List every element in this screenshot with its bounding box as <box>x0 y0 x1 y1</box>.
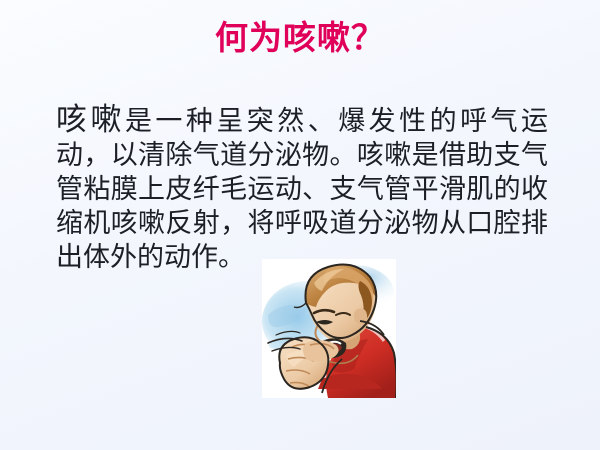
coughing-person-artwork <box>262 259 396 398</box>
page-title: 何为咳嗽？ <box>0 18 600 58</box>
body-paragraph: 咳嗽是一种呈突然、爆发性的呼气运动，以清除气道分泌物。咳嗽是借助支气管粘膜上皮纤… <box>56 103 548 274</box>
coughing-person-illustration <box>262 259 396 398</box>
body-rest-text: 是一种呈突然、爆发性的呼气运动，以清除气道分泌物。咳嗽是借助支气管粘膜上皮纤毛运… <box>56 106 548 272</box>
slide-canvas: 何为咳嗽？ 咳嗽是一种呈突然、爆发性的呼气运动，以清除气道分泌物。咳嗽是借助支气… <box>0 0 600 450</box>
body-lead-term: 咳嗽 <box>56 102 125 137</box>
